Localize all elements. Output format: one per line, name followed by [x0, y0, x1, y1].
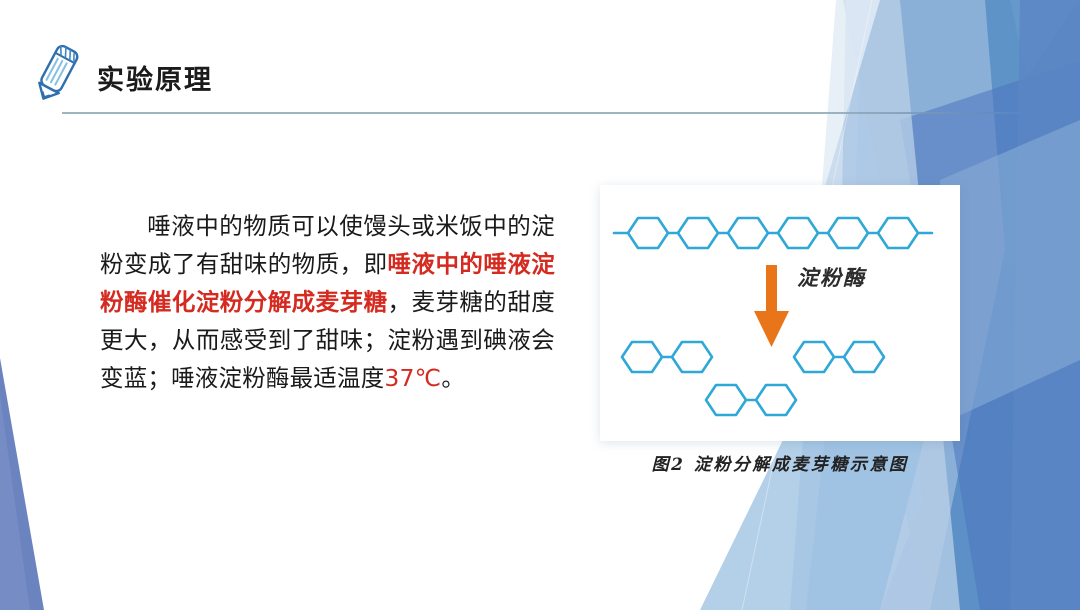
right-shape-accentlight	[940, 120, 1080, 420]
paragraph-segment-3: 。	[441, 364, 465, 392]
enzyme-label: 淀粉酶	[797, 262, 866, 292]
slide-canvas: 实验原理 唾液中的物质可以使馒头或米饭中的淀粉变成了有甜味的物质，即唾液中的唾液…	[0, 0, 1080, 610]
slide-header: 实验原理	[0, 0, 1080, 120]
enzyme-arrow	[754, 265, 789, 347]
left-triangle	[0, 358, 44, 610]
temperature-value: 37℃	[384, 364, 441, 392]
starch-chain	[614, 218, 932, 248]
page-title: 实验原理	[97, 58, 213, 97]
principle-paragraph: 唾液中的物质可以使馒头或米饭中的淀粉变成了有甜味的物质，即唾液中的唾液淀粉酶催化…	[100, 207, 555, 397]
title-divider	[62, 112, 1020, 114]
figure-card: 淀粉酶	[600, 185, 960, 441]
figure-caption: 图2 淀粉分解成麦芽糖示意图	[600, 450, 960, 475]
pencil-icon	[28, 40, 86, 106]
maltose-units	[622, 342, 884, 415]
left-triangle-inner	[0, 395, 30, 610]
